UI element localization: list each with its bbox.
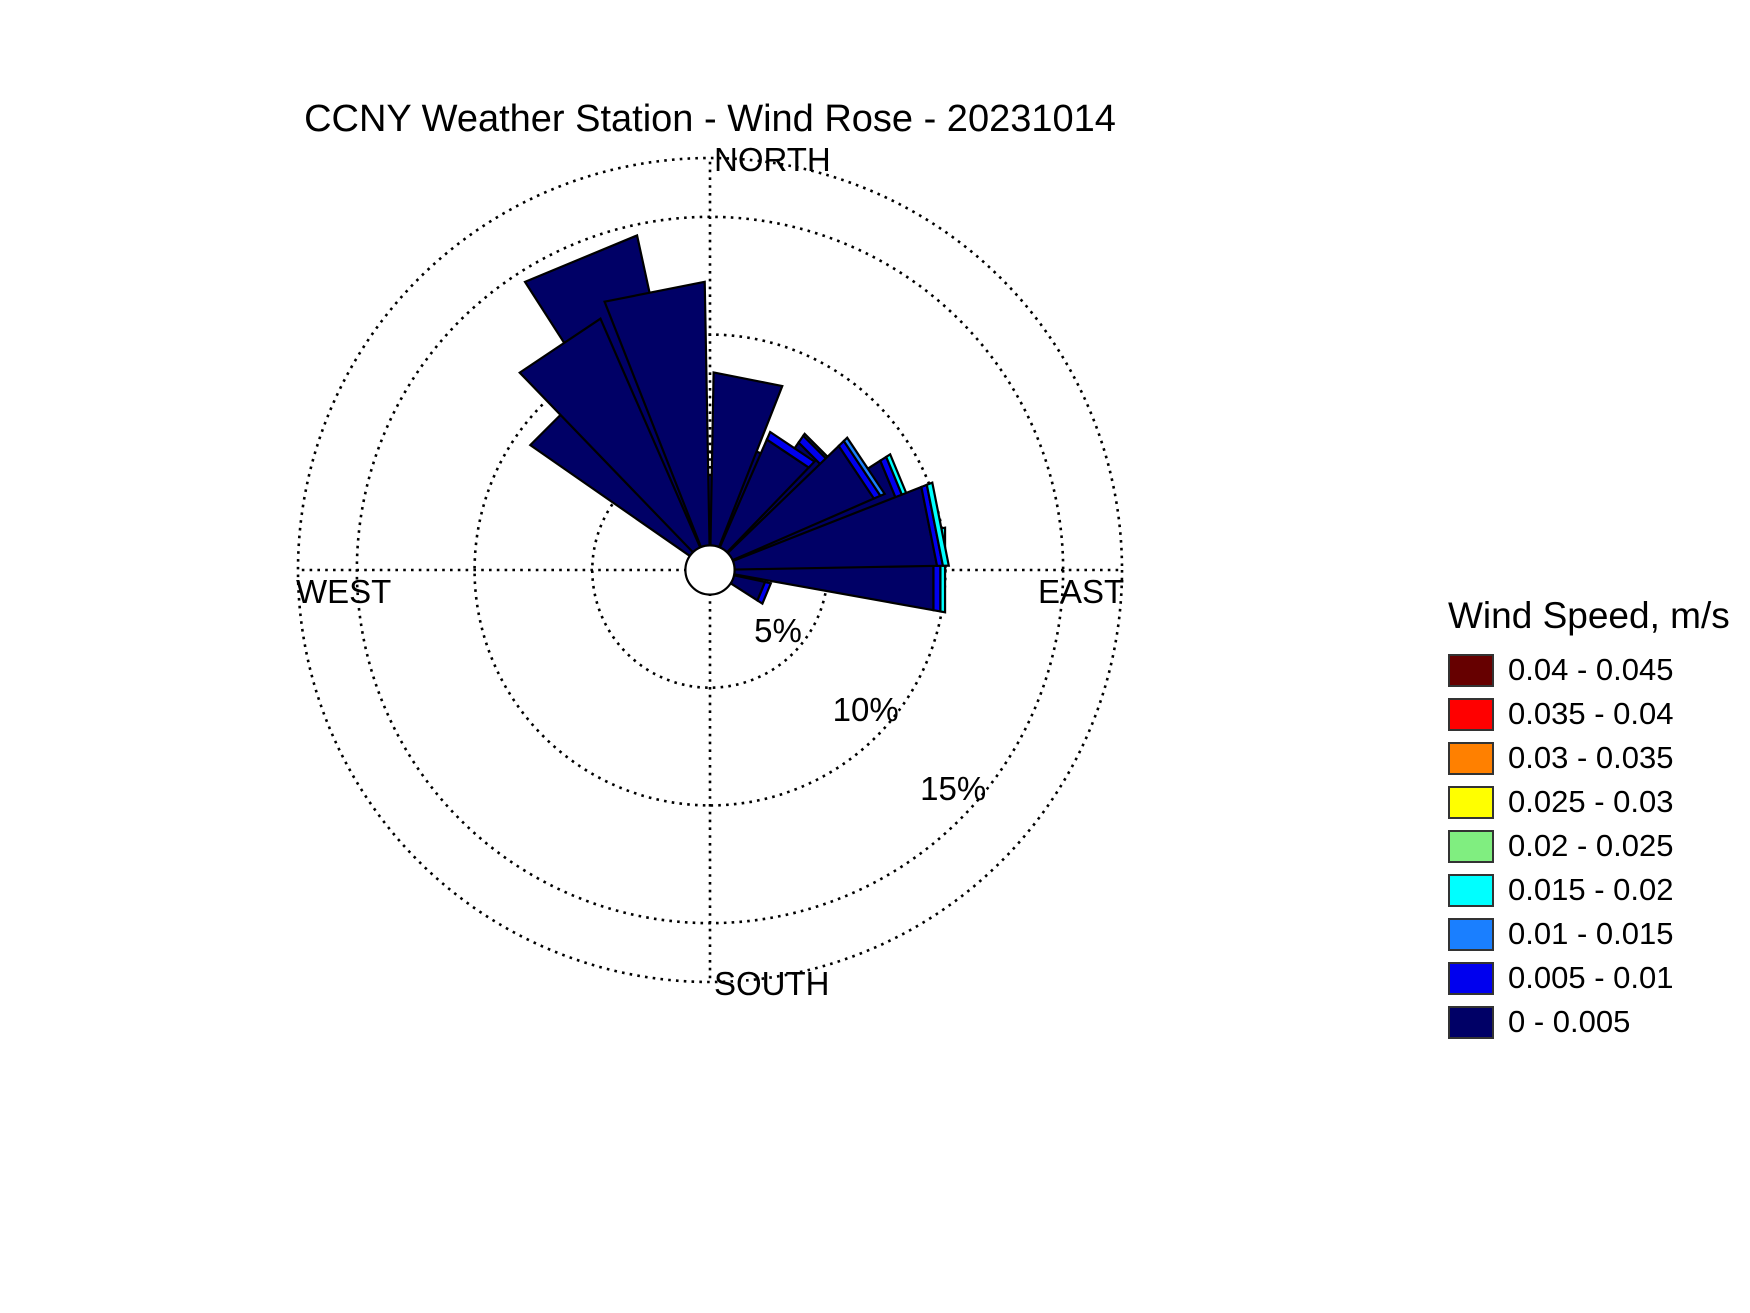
radial-tick-label: 5% [754,612,802,650]
compass-label-west: WEST [296,573,391,611]
legend-item: 0.035 - 0.04 [1448,692,1748,736]
legend-item-label: 0.01 - 0.015 [1508,917,1673,951]
legend-color-swatch [1448,1006,1494,1039]
legend-title: Wind Speed, m/s [1448,594,1748,638]
legend-item-label: 0.015 - 0.02 [1508,873,1673,907]
radial-tick-label: 10% [833,691,899,729]
legend-item: 0.005 - 0.01 [1448,956,1748,1000]
compass-label-east: EAST [1038,573,1124,611]
legend-item-label: 0.04 - 0.045 [1508,653,1673,687]
legend-item: 0.04 - 0.045 [1448,648,1748,692]
legend-color-swatch [1448,786,1494,819]
legend-item: 0.025 - 0.03 [1448,780,1748,824]
legend-color-swatch [1448,698,1494,731]
calm-circle [685,545,734,594]
legend-item-label: 0.005 - 0.01 [1508,961,1673,995]
legend-item-label: 0.035 - 0.04 [1508,697,1673,731]
wind-rose-figure: CCNY Weather Station - Wind Rose - 20231… [0,0,1750,1313]
legend-item-label: 0 - 0.005 [1508,1005,1630,1039]
legend: Wind Speed, m/s 0.04 - 0.0450.035 - 0.04… [1448,594,1748,1044]
legend-color-swatch [1448,874,1494,907]
radial-tick-label: 15% [920,770,986,808]
legend-color-swatch [1448,742,1494,775]
legend-item: 0.03 - 0.035 [1448,736,1748,780]
compass-label-south: SOUTH [714,965,830,1003]
legend-item: 0.01 - 0.015 [1448,912,1748,956]
calm-wind-circle [685,545,734,594]
legend-item: 0.015 - 0.02 [1448,868,1748,912]
legend-item: 0 - 0.005 [1448,1000,1748,1044]
legend-color-swatch [1448,962,1494,995]
legend-color-swatch [1448,654,1494,687]
legend-item: 0.02 - 0.025 [1448,824,1748,868]
compass-label-north: NORTH [714,141,831,179]
legend-item-label: 0.02 - 0.025 [1508,829,1673,863]
wind-rose-petals [520,235,949,612]
legend-item-label: 0.025 - 0.03 [1508,785,1673,819]
legend-item-label: 0.03 - 0.035 [1508,741,1673,775]
legend-color-swatch [1448,830,1494,863]
legend-color-swatch [1448,918,1494,951]
